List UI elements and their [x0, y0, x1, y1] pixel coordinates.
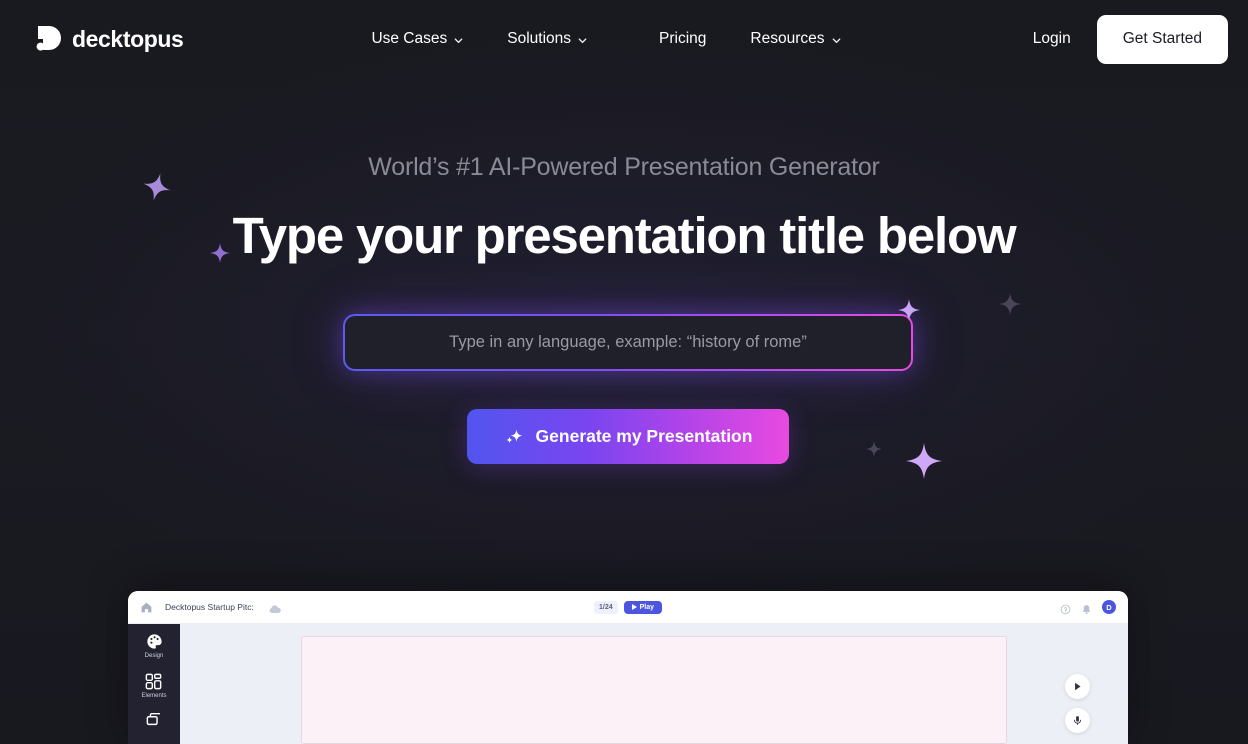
- top-navigation-bar: decktopus Use Cases Solutions Pricing Re…: [0, 0, 1248, 78]
- generate-presentation-button[interactable]: Generate my Presentation: [467, 409, 789, 464]
- palette-icon: [146, 633, 163, 650]
- preview-canvas: [180, 624, 1128, 744]
- deck-title: Decktopus Startup Pitc:: [165, 602, 254, 612]
- bell-icon[interactable]: [1081, 602, 1092, 613]
- login-link[interactable]: Login: [1029, 22, 1075, 56]
- hero-eyebrow: World’s #1 AI-Powered Presentation Gener…: [0, 153, 1248, 182]
- sidebar-item-elements-label: Elements: [141, 693, 166, 699]
- nav-item-resources-label: Resources: [750, 30, 824, 48]
- layouts-icon: [146, 713, 163, 730]
- decktopus-d-logo-icon: [36, 24, 62, 54]
- grid-elements-icon: [145, 673, 162, 690]
- presentation-topic-input[interactable]: [345, 316, 911, 369]
- voice-record-button[interactable]: [1065, 708, 1090, 733]
- get-started-button[interactable]: Get Started: [1097, 15, 1228, 64]
- play-label: Play: [640, 604, 654, 611]
- preview-topbar: Decktopus Startup Pitc: 1/24 Play D: [128, 591, 1128, 624]
- sidebar-item-design[interactable]: Design: [145, 633, 164, 659]
- sidebar-item-elements[interactable]: Elements: [141, 673, 166, 699]
- sparkle-star-icon: [999, 293, 1021, 320]
- presentation-topic-input-wrapper: [343, 314, 913, 371]
- sparkle-star-icon: [906, 443, 942, 484]
- preview-body: Design Elements: [128, 624, 1128, 744]
- canvas-tools: [1065, 674, 1090, 733]
- sparkles-icon: [504, 427, 524, 447]
- sidebar-item-design-label: Design: [145, 653, 164, 659]
- generate-presentation-label: Generate my Presentation: [536, 426, 753, 447]
- preview-topbar-right: D: [1060, 600, 1116, 614]
- sparkle-star-icon: [866, 441, 882, 462]
- play-circle-icon: [1072, 681, 1083, 692]
- microphone-icon: [1072, 715, 1083, 726]
- play-presentation-button[interactable]: Play: [624, 601, 662, 614]
- help-circle-icon[interactable]: [1060, 602, 1071, 613]
- nav-item-solutions[interactable]: Solutions: [507, 22, 587, 56]
- preview-play-button[interactable]: [1065, 674, 1090, 699]
- nav-links: Use Cases Solutions Pricing Resources: [371, 22, 840, 56]
- app-preview-window: Decktopus Startup Pitc: 1/24 Play D: [128, 591, 1128, 744]
- nav-item-resources[interactable]: Resources: [750, 22, 840, 56]
- nav-item-solutions-label: Solutions: [507, 30, 571, 48]
- brand-name: decktopus: [72, 26, 183, 53]
- slide-canvas[interactable]: [301, 636, 1007, 744]
- chevron-down-icon: [577, 35, 587, 45]
- chevron-down-icon: [453, 35, 463, 45]
- nav-item-pricing-label: Pricing: [659, 30, 706, 48]
- nav-item-use-cases-label: Use Cases: [371, 30, 447, 48]
- nav-right-actions: Login Get Started: [1029, 15, 1228, 64]
- page-title: Type your presentation title below: [0, 206, 1248, 265]
- nav-item-use-cases[interactable]: Use Cases: [371, 22, 463, 56]
- nav-item-pricing[interactable]: Pricing: [659, 22, 706, 56]
- brand-logo[interactable]: decktopus: [36, 24, 183, 54]
- sidebar-item-layouts[interactable]: [146, 713, 163, 730]
- slide-counter: 1/24: [594, 601, 618, 614]
- home-icon[interactable]: [140, 601, 153, 614]
- avatar[interactable]: D: [1102, 600, 1116, 614]
- chevron-down-icon: [831, 35, 841, 45]
- landing-page: decktopus Use Cases Solutions Pricing Re…: [0, 0, 1248, 744]
- preview-sidebar: Design Elements: [128, 624, 180, 744]
- cloud-sync-icon: [268, 602, 282, 613]
- play-icon: [632, 604, 637, 610]
